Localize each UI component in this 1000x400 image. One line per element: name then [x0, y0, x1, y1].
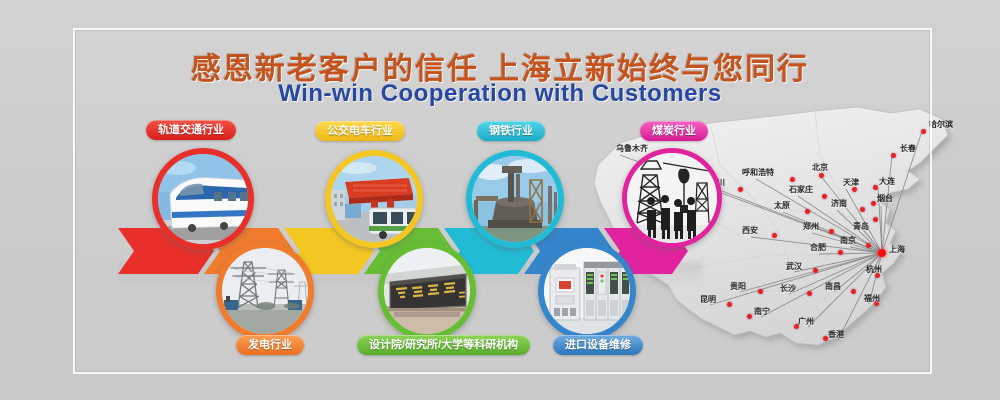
- map-dot: [813, 268, 818, 273]
- industry-label-power[interactable]: 发电行业: [236, 335, 304, 355]
- industry-label-steel[interactable]: 钢铁行业: [477, 121, 545, 141]
- map-dot: [921, 129, 926, 134]
- map-city-label: 合肥: [810, 242, 826, 253]
- map-city-label: 福州: [864, 293, 880, 304]
- map-city-label: 昆明: [700, 294, 716, 305]
- map-dot: [873, 185, 878, 190]
- map-city-label: 长沙: [780, 283, 796, 294]
- industry-label-research[interactable]: 设计院/研究所/大学等科研机构: [357, 335, 530, 355]
- map-dot-hub: [878, 249, 886, 257]
- map-city-label: 武汉: [786, 261, 802, 272]
- map-city-label: 烟台: [877, 193, 893, 204]
- map-dot: [829, 229, 834, 234]
- map-city-label: 石家庄: [789, 184, 813, 195]
- industry-circle-coal[interactable]: [622, 148, 722, 248]
- map-dot: [860, 207, 865, 212]
- photo-china-pavilion-bus: [331, 156, 417, 242]
- industry-circle-bus[interactable]: [325, 150, 423, 248]
- industry-label-bus[interactable]: 公交电车行业: [315, 121, 405, 141]
- map-city-label: 哈尔滨: [929, 119, 953, 130]
- map-dot: [805, 209, 810, 214]
- map-city-label: 郑州: [803, 221, 819, 232]
- map-city-label: 广州: [798, 316, 814, 327]
- industry-label-repair[interactable]: 进口设备维修: [553, 335, 643, 355]
- map-dot: [873, 217, 878, 222]
- photo-high-speed-train: [158, 154, 248, 244]
- map-dot: [807, 291, 812, 296]
- map-dot: [727, 302, 732, 307]
- map-city-label: 呼和浩特: [742, 167, 774, 178]
- map-city-label: 杭州: [866, 264, 882, 275]
- map-city-label: 北京: [812, 162, 828, 173]
- map-city-label: 南宁: [754, 306, 770, 317]
- map-dot: [790, 177, 795, 182]
- map-city-label-hub: 上海: [889, 244, 905, 255]
- map-dot: [891, 153, 896, 158]
- map-city-label: 南京: [840, 235, 856, 246]
- map-dot: [772, 233, 777, 238]
- map-city-label: 贵阳: [730, 281, 746, 292]
- industry-label-coal[interactable]: 煤炭行业: [640, 121, 708, 141]
- map-dot: [838, 250, 843, 255]
- industry-circle-steel[interactable]: [466, 150, 564, 248]
- map-dot: [871, 201, 876, 206]
- map-dot: [866, 243, 871, 248]
- map-dot: [747, 314, 752, 319]
- map-dot: [851, 289, 856, 294]
- photo-power-transmission-towers: [222, 248, 308, 334]
- industry-circle-power[interactable]: [216, 242, 314, 340]
- map-dot: [819, 173, 824, 178]
- photo-university-sign: [384, 248, 470, 334]
- map-city-label: 青岛: [853, 221, 869, 232]
- photo-switchgear-cabinets: [544, 248, 630, 334]
- map-city-label: 南昌: [825, 281, 841, 292]
- map-dot: [738, 187, 743, 192]
- map-city-label: 长春: [900, 143, 916, 154]
- promo-banner: 哈尔滨 长春 乌鲁木齐 呼和浩特 北京 天津 大连 石家庄 银川 济南 烟台 太…: [0, 0, 1000, 400]
- photo-blast-furnace: [472, 156, 558, 242]
- industry-label-rail[interactable]: 轨道交通行业: [146, 120, 236, 140]
- photo-coal-mine-derrick: [627, 153, 717, 243]
- banner-title-en: Win-win Cooperation with Customers: [0, 80, 1000, 108]
- industry-circle-research[interactable]: [378, 242, 476, 340]
- map-city-label: 天津: [843, 177, 859, 188]
- map-dot: [822, 194, 827, 199]
- industry-circle-repair[interactable]: [538, 242, 636, 340]
- map-city-label: 香港: [828, 329, 844, 340]
- map-city-label: 济南: [831, 198, 847, 209]
- map-dot: [758, 289, 763, 294]
- map-city-label: 西安: [742, 225, 758, 236]
- map-city-label: 太原: [774, 200, 790, 211]
- industry-circle-rail[interactable]: [152, 148, 254, 250]
- map-city-label: 大连: [879, 176, 895, 187]
